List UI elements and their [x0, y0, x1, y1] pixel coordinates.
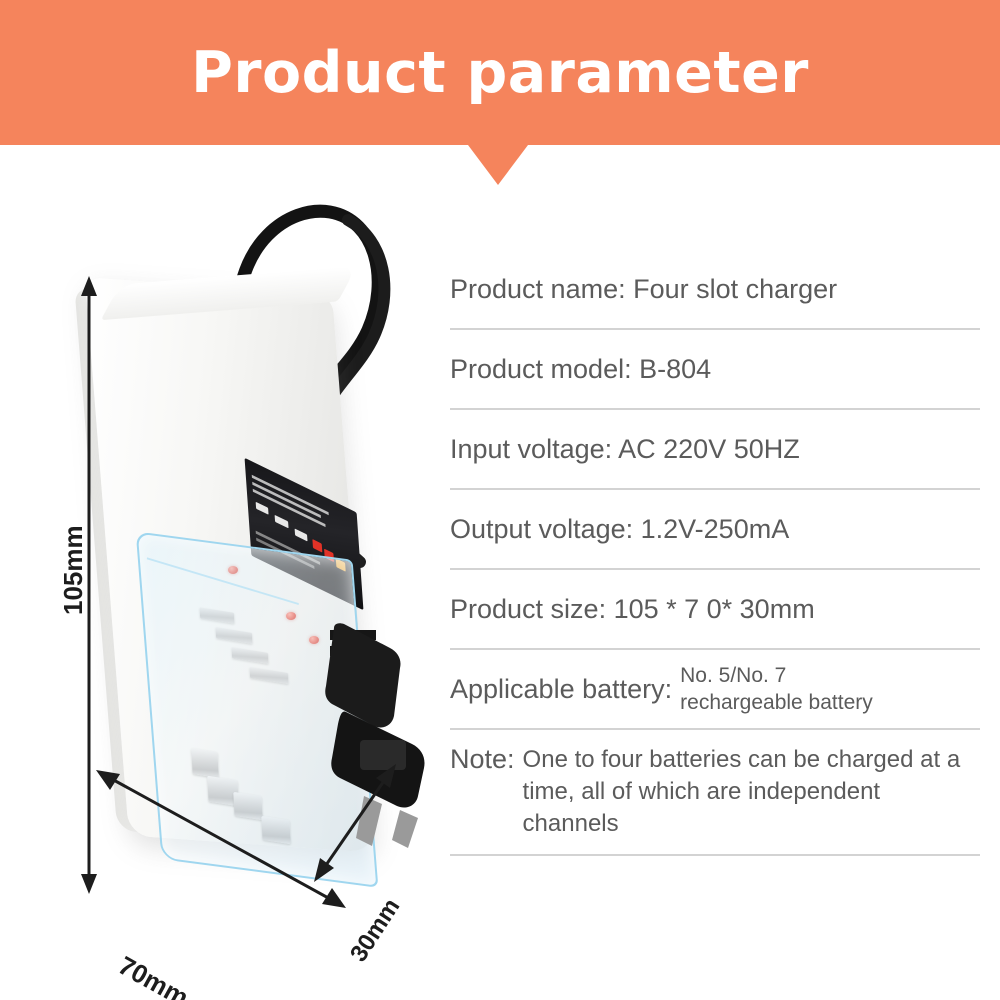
- spec-applicable-battery-label: Applicable battery:: [450, 674, 680, 705]
- battery-value-line-1: No. 5/No. 7: [680, 664, 786, 687]
- spec-note-label: Note:: [450, 744, 523, 775]
- spec-product-size: Product size: 105 * 7 0* 30mm: [450, 594, 815, 624]
- specification-table: Product name: Four slot charger Product …: [450, 250, 982, 856]
- width-dimension-label: 70mm: [113, 950, 194, 1000]
- spec-output-voltage: Output voltage: 1.2V-250mA: [450, 514, 789, 544]
- spec-product-name: Product name: Four slot charger: [450, 274, 837, 304]
- battery-value-line-2: rechargeable battery: [680, 691, 873, 714]
- table-row: Applicable battery: No. 5/No. 7 recharge…: [450, 650, 982, 728]
- table-row: Output voltage: 1.2V-250mA: [450, 490, 982, 568]
- spec-input-voltage: Input voltage: AC 220V 50HZ: [450, 434, 800, 464]
- table-row: Input voltage: AC 220V 50HZ: [450, 410, 982, 488]
- table-row: Product model: B-804: [450, 330, 982, 408]
- spec-applicable-battery-value: No. 5/No. 7 rechargeable battery: [680, 663, 873, 716]
- header-banner: Product parameter: [0, 0, 1000, 145]
- depth-dimension-arrow: [300, 750, 430, 890]
- product-parameter-page: Product parameter: [0, 0, 1000, 1000]
- height-dimension-label: 105mm: [58, 525, 89, 615]
- page-title: Product parameter: [0, 0, 1000, 145]
- table-row: Product name: Four slot charger: [450, 250, 982, 328]
- table-row: Product size: 105 * 7 0* 30mm: [450, 570, 982, 648]
- table-row: Note: One to four batteries can be charg…: [450, 730, 982, 854]
- row-divider: [450, 854, 980, 856]
- product-photo: 105mm 70mm 30mm: [0, 160, 440, 900]
- spec-note-value: One to four batteries can be charged at …: [523, 744, 982, 840]
- spec-product-model: Product model: B-804: [450, 354, 711, 384]
- banner-pointer-arrow: [468, 145, 528, 185]
